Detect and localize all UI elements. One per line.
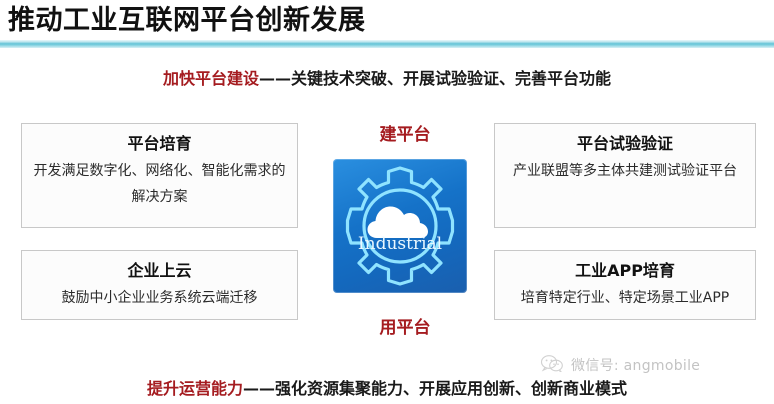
banner-top-accent: 加快平台建设 xyxy=(163,69,259,88)
wechat-icon xyxy=(540,354,564,376)
badge-text: Industrial xyxy=(358,234,442,254)
banner-top-dash: —— xyxy=(259,69,291,88)
card-industrial-app[interactable]: 工业APP培育 培育特定行业、特定场景工业APP xyxy=(494,250,756,320)
industrial-platform-badge: Industrial xyxy=(333,159,467,293)
card-title: 平台培育 xyxy=(30,130,289,158)
gear-cloud-icon: Industrial xyxy=(333,159,467,293)
card-platform-validation[interactable]: 平台试验验证 产业联盟等多主体共建测试验证平台 xyxy=(494,123,756,228)
banner-bottom-dash: —— xyxy=(243,379,275,398)
card-body: 培育特定行业、特定场景工业APP xyxy=(503,285,747,311)
page-title: 推动工业互联网平台创新发展 xyxy=(8,2,366,40)
card-enterprise-cloud[interactable]: 企业上云 鼓励中小企业业务系统云端迁移 xyxy=(21,250,298,320)
slide-canvas: 推动工业互联网平台创新发展 加快平台建设——关键技术突破、开展试验验证、完善平台… xyxy=(0,0,774,404)
watermark: 微信号: angmobile xyxy=(540,352,766,378)
card-body: 产业联盟等多主体共建测试验证平台 xyxy=(503,158,747,184)
title-divider xyxy=(0,40,774,48)
card-title: 平台试验验证 xyxy=(503,130,747,158)
label-build-platform: 建平台 xyxy=(325,120,485,145)
banner-top: 加快平台建设——关键技术突破、开展试验验证、完善平台功能 xyxy=(0,68,774,90)
card-body: 开发满足数字化、网络化、智能化需求的解决方案 xyxy=(30,158,289,210)
card-title: 企业上云 xyxy=(30,257,289,285)
card-body: 鼓励中小企业业务系统云端迁移 xyxy=(30,285,289,311)
watermark-text: 微信号: angmobile xyxy=(571,355,700,375)
banner-bottom: 提升运营能力——强化资源集聚能力、开展应用创新、创新商业模式 xyxy=(0,378,774,400)
card-title: 工业APP培育 xyxy=(503,257,747,285)
card-platform-cultivation[interactable]: 平台培育 开发满足数字化、网络化、智能化需求的解决方案 xyxy=(21,123,298,228)
banner-bottom-accent: 提升运营能力 xyxy=(147,379,243,398)
label-use-platform: 用平台 xyxy=(325,313,485,338)
banner-top-rest: 关键技术突破、开展试验验证、完善平台功能 xyxy=(291,69,611,88)
banner-bottom-rest: 强化资源集聚能力、开展应用创新、创新商业模式 xyxy=(275,379,627,398)
